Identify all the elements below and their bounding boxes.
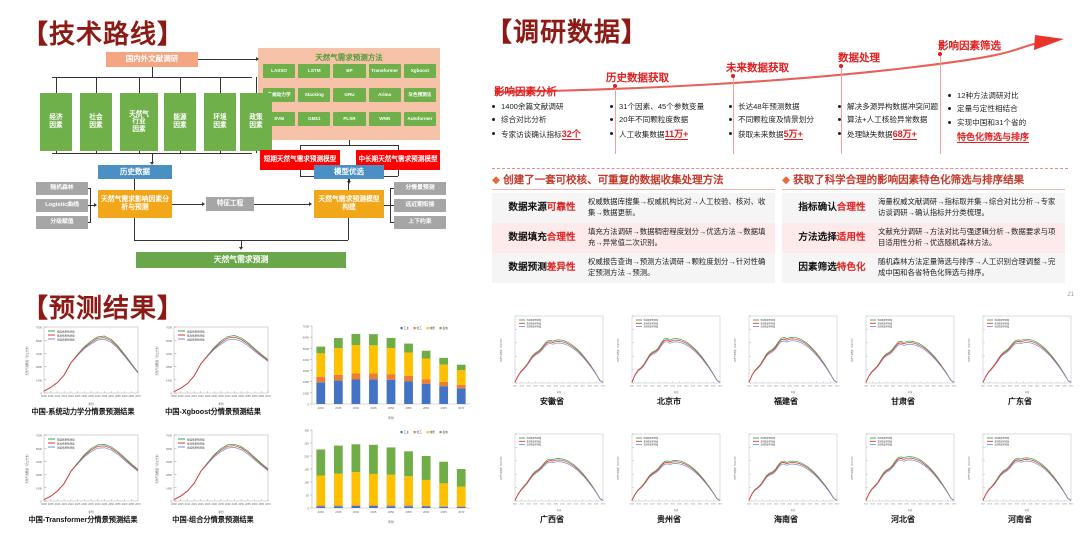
province-chart-card: 2005201020152020202520302035204020452050… xyxy=(731,430,841,525)
svg-text:2065: 2065 xyxy=(828,503,833,505)
svg-text:2055: 2055 xyxy=(697,503,702,505)
svg-text:2025: 2025 xyxy=(1008,385,1013,387)
svg-text:300: 300 xyxy=(304,429,309,433)
svg-text:2045: 2045 xyxy=(918,503,923,505)
svg-text:2070: 2070 xyxy=(458,510,465,514)
svg-text:2020: 2020 xyxy=(1001,385,1006,387)
svg-text:2015: 2015 xyxy=(877,385,882,387)
svg-text:2025: 2025 xyxy=(657,385,662,387)
svg-text:2010: 2010 xyxy=(637,385,642,387)
factor-box-list: 经济 因素社会 因素天然气 行业 因素能源 因素环境 因素政策 因素 xyxy=(26,77,258,153)
method-tag[interactable]: WNN xyxy=(369,112,401,126)
svg-text:2060: 2060 xyxy=(122,395,128,398)
province-line-chart: 2005201020152020202520302035204020452050… xyxy=(731,312,841,394)
province-line-chart: 2005201020152020202520302035204020452050… xyxy=(497,312,607,394)
svg-text:年份: 年份 xyxy=(674,390,679,394)
svg-text:1400: 1400 xyxy=(36,486,42,490)
timeline-dot xyxy=(731,74,735,78)
result-row-key: 数据来源可靠性 xyxy=(496,202,588,214)
province-line-chart: 2005201020152020202520302035204020452050… xyxy=(848,312,958,394)
svg-text:2065: 2065 xyxy=(129,395,135,398)
result-row: 数据来源可靠性权威数据库搜集→权威机构比对→人工校验、核对、收集→数据更新。 xyxy=(492,193,775,223)
method-tag[interactable]: GM11 xyxy=(298,112,330,126)
svg-text:2040: 2040 xyxy=(911,503,916,505)
svg-text:天然气消费量（亿立方米）: 天然气消费量（亿立方米） xyxy=(850,337,854,362)
svg-text:2065: 2065 xyxy=(441,406,448,410)
svg-text:2070: 2070 xyxy=(835,503,840,505)
svg-text:天然气消费量（亿立方米）: 天然气消费量（亿立方米） xyxy=(616,337,620,362)
svg-text:天然气消费量（亿立方米）: 天然气消费量（亿立方米） xyxy=(850,455,854,480)
svg-text:50: 50 xyxy=(306,494,310,498)
svg-text:2040: 2040 xyxy=(95,395,101,398)
result-card-right: ◆获取了科学合理的影响因素特色化筛选与排序结果 指标确认合理性海量权威文献调研→… xyxy=(782,172,1065,283)
result-right-heading: ◆获取了科学合理的影响因素特色化筛选与排序结果 xyxy=(782,172,1065,190)
svg-text:2030: 2030 xyxy=(781,385,786,387)
svg-text:年份: 年份 xyxy=(218,510,224,514)
svg-text:2065: 2065 xyxy=(711,385,716,387)
svg-text:年份: 年份 xyxy=(791,508,796,512)
chart-card: 0501001502002503002030203520402045205020… xyxy=(286,424,476,524)
province-chart-card: 2005201020152020202520302035204020452050… xyxy=(965,312,1075,407)
svg-text:2015: 2015 xyxy=(760,385,765,387)
survey-bullet-item: 长达48年预测数据 xyxy=(729,100,814,113)
svg-text:2020: 2020 xyxy=(767,503,772,505)
svg-text:2055: 2055 xyxy=(814,385,819,387)
svg-text:4200: 4200 xyxy=(36,460,42,464)
result-row-key: 数据填充合理性 xyxy=(496,232,588,244)
result-row: 指标确认合理性海量权威文献调研→指标取并集→综合对比分析→专家访谈调研→确认指标… xyxy=(782,193,1065,223)
svg-text:2050: 2050 xyxy=(691,503,696,505)
svg-text:2065: 2065 xyxy=(945,503,950,505)
svg-text:2025: 2025 xyxy=(540,503,545,505)
province-chart-card: 2005201020152020202520302035204020452050… xyxy=(497,430,607,525)
svg-text:年份: 年份 xyxy=(908,390,913,394)
svg-text:2010: 2010 xyxy=(55,395,61,398)
method-tag[interactable]: LSTM xyxy=(298,64,330,78)
result-row: 数据预测差异性权威报告查询→预测方法调研→颗粒度划分→针对性确定预测方法→预测。 xyxy=(492,253,775,283)
svg-text:2035: 2035 xyxy=(670,385,675,387)
method-tag[interactable]: Stacking xyxy=(298,88,330,102)
svg-text:2015: 2015 xyxy=(643,385,648,387)
svg-text:2040: 2040 xyxy=(677,503,682,505)
svg-text:2065: 2065 xyxy=(1062,503,1067,505)
province-chart-card: 2005201020152020202520302035204020452050… xyxy=(614,312,724,407)
svg-text:年份: 年份 xyxy=(674,508,679,512)
svg-text:2010: 2010 xyxy=(754,503,759,505)
method-tag[interactable]: Xgboost xyxy=(404,64,436,78)
svg-text:2035: 2035 xyxy=(553,385,558,387)
svg-text:2045: 2045 xyxy=(232,503,238,506)
factor-box: 政策 因素 xyxy=(240,93,272,151)
svg-text:6000: 6000 xyxy=(303,336,310,340)
svg-text:4000: 4000 xyxy=(303,358,310,362)
svg-text:2020: 2020 xyxy=(650,385,655,387)
svg-text:2020: 2020 xyxy=(884,503,889,505)
svg-text:2005: 2005 xyxy=(48,503,54,506)
svg-text:2050: 2050 xyxy=(808,385,813,387)
svg-text:2035: 2035 xyxy=(1021,385,1026,387)
svg-text:2040: 2040 xyxy=(1028,385,1033,387)
svg-text:2045: 2045 xyxy=(102,503,108,506)
svg-text:2025: 2025 xyxy=(774,385,779,387)
svg-text:高碳情景预测值: 高碳情景预测值 xyxy=(57,445,75,449)
svg-text:2010: 2010 xyxy=(520,385,525,387)
svg-text:2040: 2040 xyxy=(677,385,682,387)
svg-text:2045: 2045 xyxy=(1035,385,1040,387)
aux-box-left: 分级赋值 xyxy=(36,216,88,229)
svg-text:2030: 2030 xyxy=(1015,503,1020,505)
box-feature-engineering: 特征工程 xyxy=(206,197,254,211)
svg-text:2045: 2045 xyxy=(684,503,689,505)
svg-text:7000: 7000 xyxy=(36,326,42,330)
svg-text:1000: 1000 xyxy=(303,391,310,395)
svg-text:2070: 2070 xyxy=(1069,385,1074,387)
svg-text:0: 0 xyxy=(307,507,309,511)
survey-bullet-item: 人工收集数据11万+ xyxy=(610,127,704,143)
svg-text:2800: 2800 xyxy=(36,473,42,477)
svg-text:2040: 2040 xyxy=(911,385,916,387)
province-name: 甘肃省 xyxy=(848,396,958,407)
svg-text:2030: 2030 xyxy=(664,503,669,505)
svg-text:2030: 2030 xyxy=(898,385,903,387)
svg-text:2010: 2010 xyxy=(871,385,876,387)
svg-text:2050: 2050 xyxy=(691,385,696,387)
method-tag[interactable]: Transformer xyxy=(369,64,401,78)
survey-timeline: 影响因素分析历史数据获取未来数据获取数据处理影响因素筛选 1400余篇文献调研综… xyxy=(486,34,1066,164)
methods-panel-title: 天然气需求预测方法 xyxy=(258,52,440,63)
province-name: 北京市 xyxy=(614,396,724,407)
svg-text:化工: 化工 xyxy=(416,326,422,330)
svg-text:7000: 7000 xyxy=(36,434,42,438)
svg-text:天然气消费量（亿立方米）: 天然气消费量（亿立方米） xyxy=(25,452,29,483)
svg-text:2045: 2045 xyxy=(370,510,377,514)
svg-text:2060: 2060 xyxy=(423,510,430,514)
svg-text:2065: 2065 xyxy=(259,395,265,398)
svg-text:2005: 2005 xyxy=(178,503,184,506)
svg-text:2035: 2035 xyxy=(335,406,342,410)
svg-text:2005: 2005 xyxy=(747,503,752,505)
svg-text:2800: 2800 xyxy=(166,473,172,477)
line-chart-svg: 0140028004200560070002000200520102015202… xyxy=(152,322,274,406)
svg-text:2025: 2025 xyxy=(75,503,81,506)
svg-text:2035: 2035 xyxy=(553,503,558,505)
svg-text:城燃: 城燃 xyxy=(429,326,435,330)
survey-bullet-item: 20年不同颗粒度数据 xyxy=(610,113,704,126)
svg-text:2020: 2020 xyxy=(198,395,204,398)
svg-text:2040: 2040 xyxy=(560,385,565,387)
svg-text:2030: 2030 xyxy=(82,395,88,398)
survey-bullet-item: 实现中国和31个省的 xyxy=(948,116,1029,129)
svg-text:天然气消费量（亿立方米）: 天然气消费量（亿立方米） xyxy=(967,337,971,362)
svg-text:2005: 2005 xyxy=(630,503,635,505)
svg-text:天然气消费量（亿立方米）: 天然气消费量（亿立方米） xyxy=(155,452,159,483)
svg-text:2040: 2040 xyxy=(225,395,231,398)
svg-text:化工: 化工 xyxy=(416,430,422,434)
svg-text:2070: 2070 xyxy=(952,385,957,387)
svg-text:2060: 2060 xyxy=(122,503,128,506)
svg-text:2055: 2055 xyxy=(405,406,412,410)
svg-text:2060: 2060 xyxy=(704,385,709,387)
svg-text:年份: 年份 xyxy=(557,390,562,394)
svg-text:1400: 1400 xyxy=(36,378,42,382)
svg-text:2060: 2060 xyxy=(1055,503,1060,505)
factor-box: 天然气 行业 因素 xyxy=(120,93,158,151)
svg-text:2050: 2050 xyxy=(1042,503,1047,505)
svg-text:2020: 2020 xyxy=(650,503,655,505)
survey-bullet-item: 算法+人工核验异常数据 xyxy=(838,113,938,126)
svg-text:2000: 2000 xyxy=(171,503,177,506)
method-tag[interactable]: 灰色预测法 xyxy=(404,88,436,102)
svg-text:年份: 年份 xyxy=(557,508,562,512)
svg-text:2040: 2040 xyxy=(353,510,360,514)
method-tag[interactable]: PLSR xyxy=(333,112,365,126)
result-row-value: 权威报告查询→预测方法调研→颗粒度划分→针对性确定预测方法→预测。 xyxy=(588,257,771,278)
line-chart-svg: 0140028004200560070002000200520102015202… xyxy=(22,322,144,406)
svg-text:2050: 2050 xyxy=(238,503,244,506)
svg-text:天然气消费量（亿立方米）: 天然气消费量（亿立方米） xyxy=(499,337,503,362)
svg-text:2010: 2010 xyxy=(520,503,525,505)
svg-text:发电: 发电 xyxy=(442,326,448,330)
svg-text:2060: 2060 xyxy=(252,503,258,506)
svg-text:2015: 2015 xyxy=(526,503,531,505)
svg-text:2015: 2015 xyxy=(994,503,999,505)
svg-text:1400: 1400 xyxy=(166,378,172,382)
svg-text:5600: 5600 xyxy=(166,447,172,451)
province-name: 广东省 xyxy=(965,396,1075,407)
svg-text:7000: 7000 xyxy=(303,325,310,329)
province-line-chart: 2005201020152020202520302035204020452050… xyxy=(614,430,724,512)
svg-text:2015: 2015 xyxy=(760,503,765,505)
result-row-key: 方法选择适用性 xyxy=(786,232,878,244)
svg-text:2070: 2070 xyxy=(135,503,141,506)
svg-text:年份: 年份 xyxy=(218,402,224,406)
svg-text:2065: 2065 xyxy=(594,385,599,387)
province-line-chart: 2005201020152020202520302035204020452050… xyxy=(731,430,841,512)
survey-bullet-column: 31个因素、45个参数变量20年不同颗粒度数据人工收集数据11万+ xyxy=(610,100,704,142)
svg-text:2005: 2005 xyxy=(864,503,869,505)
svg-text:2020: 2020 xyxy=(68,395,74,398)
svg-text:工业: 工业 xyxy=(403,430,409,434)
svg-text:2045: 2045 xyxy=(1035,503,1040,505)
svg-text:2070: 2070 xyxy=(458,406,465,410)
province-line-chart: 2005201020152020202520302035204020452050… xyxy=(848,430,958,512)
svg-text:2050: 2050 xyxy=(238,395,244,398)
survey-bullet-item: 处理缺失数据68万+ xyxy=(838,127,938,143)
timeline-dot xyxy=(839,64,843,68)
result-row: 因素筛选特色化随机森林方法定量筛选与排序→人工识别合理调整→完成中国和各省特色化… xyxy=(782,253,1065,283)
svg-text:2070: 2070 xyxy=(265,395,271,398)
province-chart-card: 2005201020152020202520302035204020452050… xyxy=(731,312,841,407)
svg-text:5600: 5600 xyxy=(36,339,42,343)
svg-text:2045: 2045 xyxy=(232,395,238,398)
box-final-forecast: 天然气需求预测 xyxy=(136,252,346,268)
svg-text:天然气消费量（亿立方米）: 天然气消费量（亿立方米） xyxy=(733,455,737,480)
svg-text:2015: 2015 xyxy=(877,503,882,505)
diamond-icon: ◆ xyxy=(492,174,500,186)
svg-text:2000: 2000 xyxy=(303,380,310,384)
svg-text:年份: 年份 xyxy=(88,402,94,406)
svg-text:2025: 2025 xyxy=(205,395,211,398)
survey-bullet-column: 长达48年预测数据不同颗粒度及情景划分获取未来数据5万+ xyxy=(729,100,814,142)
stage-label: 数据处理 xyxy=(838,50,880,65)
svg-text:2005: 2005 xyxy=(630,385,635,387)
svg-text:2000: 2000 xyxy=(171,395,177,398)
aux-box-left: Logistic曲线 xyxy=(36,199,88,212)
svg-text:2055: 2055 xyxy=(405,510,412,514)
factor-box: 经济 因素 xyxy=(40,93,72,151)
result-row-value: 随机森林方法定量筛选与排序→人工识别合理调整→完成中国和各省特色化筛选与排序。 xyxy=(878,257,1061,278)
timeline-dot xyxy=(938,52,942,56)
svg-text:2025: 2025 xyxy=(891,385,896,387)
chart-card: 0140028004200560070002000200520102015202… xyxy=(22,322,144,417)
svg-text:2040: 2040 xyxy=(353,406,360,410)
svg-text:2060: 2060 xyxy=(423,406,430,410)
chart-caption: 中国-Transformer分情景预测结果 xyxy=(22,515,144,525)
chart-caption: 中国-Xgboost分情景预测结果 xyxy=(152,407,274,417)
method-tag[interactable]: GRU xyxy=(333,88,365,102)
svg-text:2060: 2060 xyxy=(821,385,826,387)
svg-text:2035: 2035 xyxy=(335,510,342,514)
svg-text:2015: 2015 xyxy=(526,385,531,387)
province-chart-card: 2005201020152020202520302035204020452050… xyxy=(497,312,607,407)
svg-text:2065: 2065 xyxy=(945,385,950,387)
svg-text:低碳情景预测值: 低碳情景预测值 xyxy=(57,329,75,333)
svg-text:2070: 2070 xyxy=(601,503,606,505)
svg-text:年份: 年份 xyxy=(1025,508,1030,512)
svg-text:2050: 2050 xyxy=(925,385,930,387)
province-line-chart: 2005201020152020202520302035204020452050… xyxy=(965,312,1075,394)
box-model-construction: 天然气需求预测模型构建 xyxy=(314,190,384,218)
province-chart-card: 2005201020152020202520302035204020452050… xyxy=(848,312,958,407)
svg-text:2005: 2005 xyxy=(981,385,986,387)
svg-text:2045: 2045 xyxy=(918,385,923,387)
svg-text:2060: 2060 xyxy=(587,503,592,505)
svg-text:2020: 2020 xyxy=(533,385,538,387)
svg-text:2040: 2040 xyxy=(794,503,799,505)
svg-text:2010: 2010 xyxy=(185,503,191,506)
aux-box-right: 上下约束 xyxy=(394,216,446,229)
chart-card: 0100020003000400050006000700020302035204… xyxy=(286,320,476,420)
survey-bullet-item: 特色化筛选与排序 xyxy=(948,130,1029,146)
svg-text:2070: 2070 xyxy=(265,503,271,506)
svg-text:2050: 2050 xyxy=(1042,385,1047,387)
svg-text:2030: 2030 xyxy=(318,510,325,514)
svg-text:2070: 2070 xyxy=(601,385,606,387)
svg-text:2065: 2065 xyxy=(828,385,833,387)
svg-text:2055: 2055 xyxy=(245,503,251,506)
svg-text:年份: 年份 xyxy=(791,390,796,394)
svg-text:2035: 2035 xyxy=(88,503,94,506)
diamond-icon: ◆ xyxy=(782,174,790,186)
svg-text:2005: 2005 xyxy=(981,503,986,505)
factor-box: 社会 因素 xyxy=(80,93,112,151)
survey-bullet-item: 专家访谈确认指标32个 xyxy=(492,127,581,143)
svg-text:发电: 发电 xyxy=(442,430,448,434)
svg-text:150: 150 xyxy=(304,468,309,472)
result-row: 数据填充合理性填充方法调研→数据稠密程度划分→优选方法→数据填充→异常值二次识别… xyxy=(492,223,775,253)
svg-text:5000: 5000 xyxy=(303,347,310,351)
province-chart-card: 2005201020152020202520302035204020452050… xyxy=(848,430,958,525)
timeline-dot xyxy=(613,84,617,88)
method-tag[interactable]: BP xyxy=(333,64,365,78)
svg-text:2055: 2055 xyxy=(931,385,936,387)
svg-text:2055: 2055 xyxy=(115,395,121,398)
svg-text:2065: 2065 xyxy=(259,503,265,506)
timeline-tick xyxy=(940,54,941,154)
svg-text:5600: 5600 xyxy=(36,447,42,451)
svg-text:2040: 2040 xyxy=(225,503,231,506)
svg-text:2005: 2005 xyxy=(513,385,518,387)
tech-roadmap: 天然气需求预测方法 LASSOLSTMBPTransformerXgboost系… xyxy=(26,46,446,286)
method-tag[interactable]: Arima xyxy=(369,88,401,102)
line-chart-svg: 0140028004200560070002000200520102015202… xyxy=(152,430,274,514)
result-row-value: 文献充分调研→方法对比与强逻辑分析→数据要求与项目适用性分析→优选随机森林方法。 xyxy=(878,227,1061,248)
method-tag[interactable]: LASSO xyxy=(263,64,295,78)
survey-bullet-item: 31个因素、45个参数变量 xyxy=(610,100,704,113)
svg-text:2070: 2070 xyxy=(952,503,957,505)
result-left-heading: ◆创建了一套可校核、可重复的数据收集处理方法 xyxy=(492,172,775,190)
svg-text:年份: 年份 xyxy=(388,415,394,420)
result-row-key: 因素筛选特色化 xyxy=(786,262,878,274)
province-line-chart: 2005201020152020202520302035204020452050… xyxy=(614,312,724,394)
svg-text:2070: 2070 xyxy=(718,385,723,387)
svg-text:2055: 2055 xyxy=(1048,503,1053,505)
svg-text:2060: 2060 xyxy=(938,385,943,387)
bar-chart-svg: 0501001502002503002030203520402045205020… xyxy=(286,424,476,524)
svg-text:高碳情景预测值: 高碳情景预测值 xyxy=(57,337,75,341)
svg-text:2005: 2005 xyxy=(513,503,518,505)
aux-box-right: 远近期衔接 xyxy=(394,199,446,212)
svg-text:2035: 2035 xyxy=(218,395,224,398)
svg-text:2030: 2030 xyxy=(318,406,325,410)
box-literature-survey: 国内外文献调研 xyxy=(106,52,198,67)
svg-text:2020: 2020 xyxy=(767,385,772,387)
box-history-data: 历史数据 xyxy=(98,165,172,179)
province-name: 海南省 xyxy=(731,514,841,525)
svg-text:100: 100 xyxy=(304,481,309,485)
svg-text:2045: 2045 xyxy=(801,503,806,505)
aux-box-right: 分情景预测 xyxy=(394,182,446,195)
svg-text:2050: 2050 xyxy=(108,503,114,506)
province-name: 河北省 xyxy=(848,514,958,525)
svg-text:2030: 2030 xyxy=(664,385,669,387)
result-row-key: 数据预测差异性 xyxy=(496,262,588,274)
svg-text:2035: 2035 xyxy=(787,503,792,505)
svg-text:2055: 2055 xyxy=(931,503,936,505)
svg-text:2035: 2035 xyxy=(218,503,224,506)
svg-text:工业: 工业 xyxy=(403,326,409,330)
slide-root: 【技术路线】 【预测结果】 【调研数据】 天然气需求预测方法 LASSOLSTM… xyxy=(0,0,1080,542)
svg-text:2065: 2065 xyxy=(711,503,716,505)
svg-text:2055: 2055 xyxy=(245,395,251,398)
aux-left-list: 随机森林Logistic曲线分级赋值 xyxy=(36,182,88,226)
svg-text:2035: 2035 xyxy=(904,385,909,387)
svg-text:2035: 2035 xyxy=(88,395,94,398)
svg-text:2010: 2010 xyxy=(637,503,642,505)
survey-bullet-item: 获取未来数据5万+ xyxy=(729,127,814,143)
svg-text:天然气消费量（亿立方米）: 天然气消费量（亿立方米） xyxy=(616,455,620,480)
svg-text:年份: 年份 xyxy=(388,519,394,524)
svg-text:2040: 2040 xyxy=(95,503,101,506)
svg-text:0: 0 xyxy=(307,403,309,407)
svg-text:2060: 2060 xyxy=(1055,385,1060,387)
svg-text:基准情景预测值: 基准情景预测值 xyxy=(57,441,75,445)
method-tag[interactable]: Autoformer xyxy=(404,112,436,126)
divider-dashed xyxy=(492,168,1068,169)
svg-text:高碳情景预测值: 高碳情景预测值 xyxy=(187,337,205,341)
svg-text:基准情景预测值: 基准情景预测值 xyxy=(187,333,205,337)
province-name: 广西省 xyxy=(497,514,607,525)
